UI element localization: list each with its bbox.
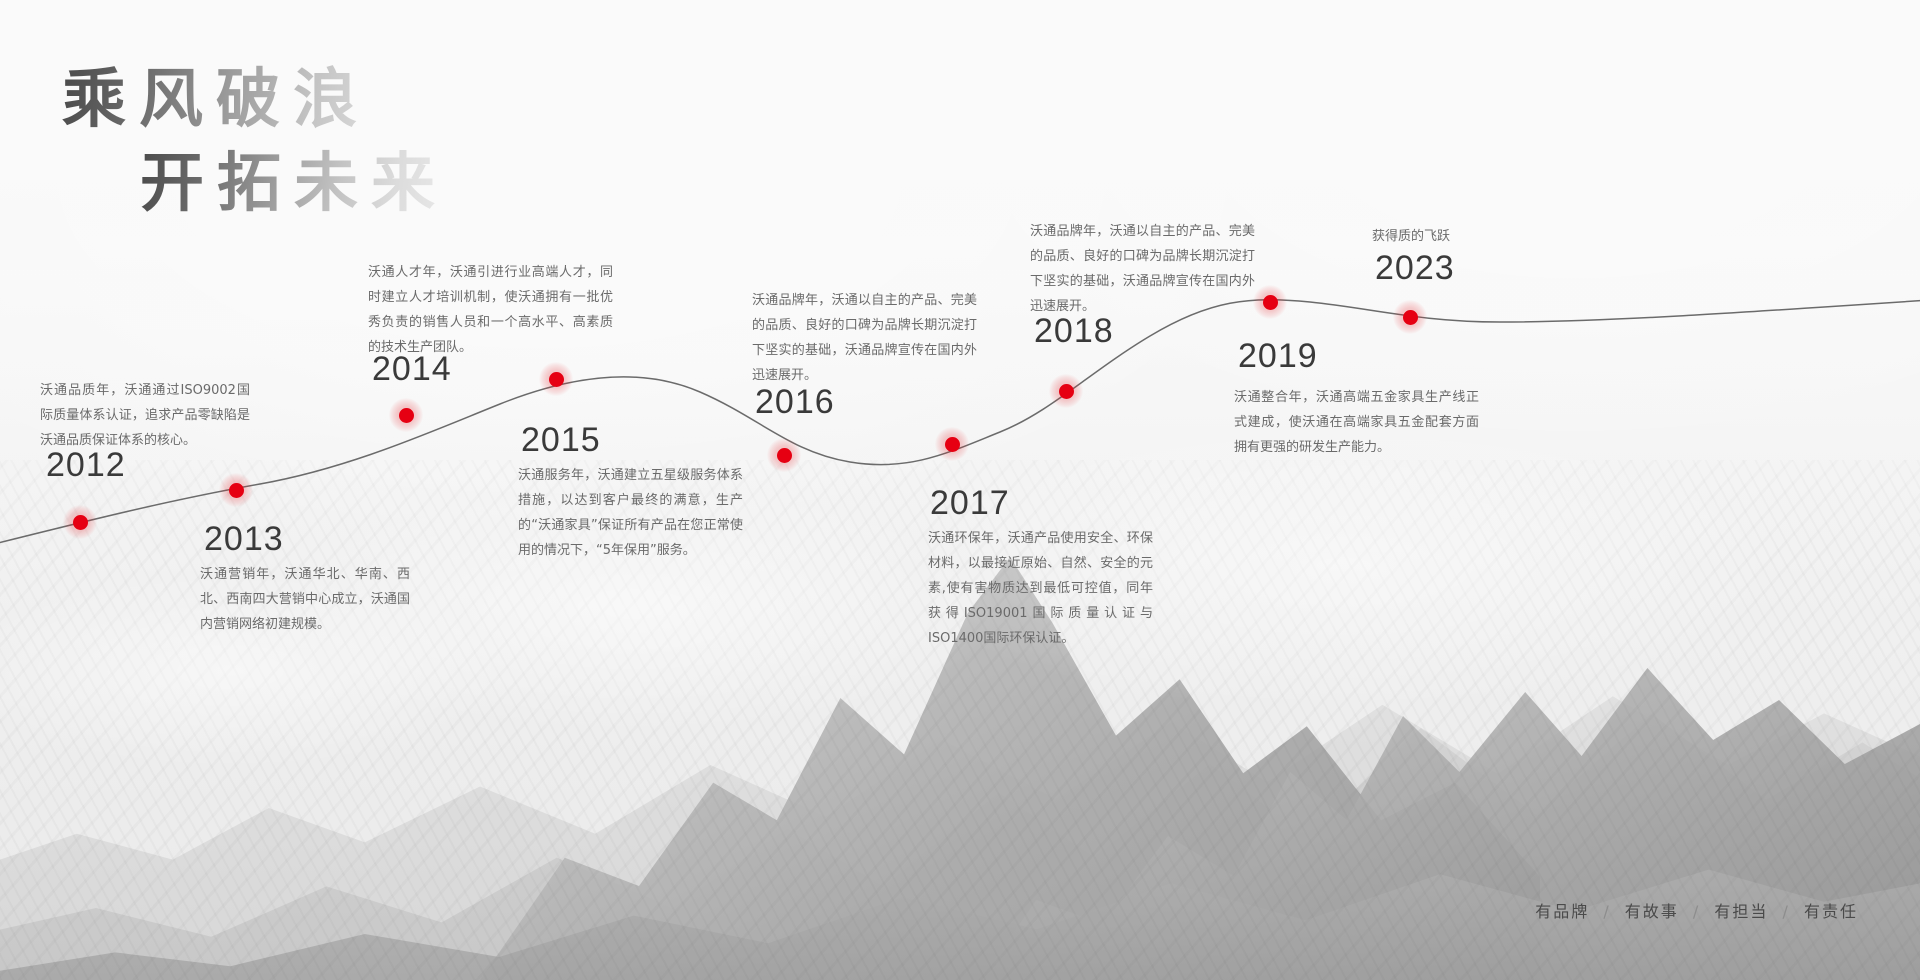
milestone-dot-2017[interactable] (935, 427, 969, 461)
milestone-desc-2019: 沃通整合年，沃通高端五金家具生产线正式建成，使沃通在高端家具五金配套方面拥有更强… (1234, 385, 1479, 460)
milestone-dot-2023[interactable] (1393, 300, 1427, 334)
tagline-item-1: 有品牌 (1535, 902, 1589, 921)
milestone-dot-2015[interactable] (539, 362, 573, 396)
headline-line-2: 开拓未来 (140, 146, 448, 222)
milestone-dot-2016[interactable] (767, 438, 801, 472)
milestone-year-2013: 2013 (204, 520, 284, 559)
footer-tagline: 有品牌 / 有故事 / 有担当 / 有责任 (1535, 898, 1858, 922)
milestone-dot-2013[interactable] (219, 473, 253, 507)
milestone-desc-2016: 沃通品牌年，沃通以自主的产品、完美的品质、良好的口碑为品牌长期沉淀打下坚实的基础… (752, 288, 977, 388)
tagline-separator-2: / (1693, 902, 1700, 921)
milestone-desc-2018: 沃通品牌年，沃通以自主的产品、完美的品质、良好的口碑为品牌长期沉淀打下坚实的基础… (1030, 219, 1255, 319)
milestone-year-2023: 2023 (1375, 249, 1455, 288)
milestone-dot-2019[interactable] (1253, 285, 1287, 319)
tagline-item-4: 有责任 (1804, 902, 1858, 921)
milestone-year-2017: 2017 (930, 484, 1010, 523)
milestone-desc-2012: 沃通品质年，沃通通过ISO9002国际质量体系认证，追求产品零缺陷是沃通品质保证… (40, 378, 250, 453)
tagline-separator-3: / (1783, 902, 1790, 921)
tagline-item-2: 有故事 (1625, 902, 1679, 921)
tagline-item-3: 有担当 (1714, 902, 1768, 921)
infographic-canvas: 乘风破浪 开拓未来 2012 沃通品质年，沃通通过ISO9002国际质量体系认证… (0, 0, 1920, 980)
milestone-desc-2023: 获得质的飞跃 (1372, 224, 1512, 249)
milestone-year-2019: 2019 (1238, 337, 1318, 376)
milestone-desc-2015: 沃通服务年，沃通建立五星级服务体系措施，以达到客户最终的满意，生产的“沃通家具”… (518, 463, 743, 563)
milestone-desc-2014: 沃通人才年，沃通引进行业高端人才，同时建立人才培训机制，使沃通拥有一批优秀负责的… (368, 260, 613, 360)
milestone-desc-2013: 沃通营销年，沃通华北、华南、西北、西南四大营销中心成立，沃通国内营销网络初建规模… (200, 562, 410, 637)
milestone-dot-2014[interactable] (389, 398, 423, 432)
headline-block: 乘风破浪 开拓未来 (62, 62, 448, 221)
milestone-dot-2018[interactable] (1049, 374, 1083, 408)
tagline-separator-1: / (1603, 902, 1610, 921)
milestone-dot-2012[interactable] (63, 505, 97, 539)
milestone-year-2016: 2016 (755, 383, 835, 422)
headline-line-1: 乘风破浪 (62, 62, 448, 138)
milestone-desc-2017: 沃通环保年，沃通产品使用安全、环保材料，以最接近原始、自然、安全的元素,使有害物… (928, 526, 1153, 651)
milestone-year-2015: 2015 (521, 421, 601, 460)
